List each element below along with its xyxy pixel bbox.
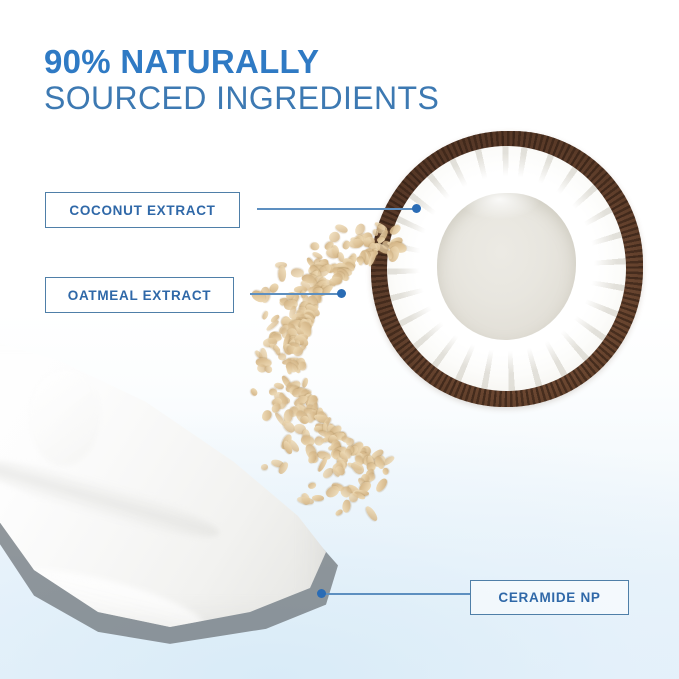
oat-flake xyxy=(334,222,349,234)
oat-flake xyxy=(296,308,313,318)
leader-dot-coconut xyxy=(412,204,421,213)
headline-line-2: SOURCED INGREDIENTS xyxy=(44,81,439,115)
oat-flake xyxy=(312,274,326,290)
headline-line-1: 90% NATURALLY xyxy=(44,44,439,79)
oat-flake xyxy=(284,298,300,311)
oat-flake xyxy=(319,282,329,292)
oat-flake xyxy=(344,261,356,273)
oat-flake xyxy=(307,264,319,277)
oat-flake xyxy=(301,273,317,284)
oat-flake xyxy=(371,454,387,469)
oat-flake xyxy=(324,263,336,275)
oat-flake xyxy=(298,300,311,315)
oat-flake xyxy=(305,302,322,318)
oat-flake xyxy=(316,257,331,274)
leader-line-oatmeal xyxy=(250,293,342,295)
coconut-cavity xyxy=(437,193,576,340)
oat-flake xyxy=(290,294,300,306)
oat-flake xyxy=(312,295,321,307)
oat-flake xyxy=(319,258,328,269)
oat-flake xyxy=(344,255,357,269)
oat-flake xyxy=(304,302,314,312)
oat-flake xyxy=(373,455,386,470)
oat-flake xyxy=(329,275,343,285)
oat-flake xyxy=(319,284,335,298)
oat-flake xyxy=(316,262,333,279)
oat-flake xyxy=(331,245,340,259)
oat-flake xyxy=(260,287,271,304)
oat-flake xyxy=(294,286,308,293)
cream-peak xyxy=(30,370,100,466)
oat-flake xyxy=(301,299,313,308)
oat-flake xyxy=(335,267,350,283)
oat-flake xyxy=(361,453,372,465)
oat-flake xyxy=(301,294,310,309)
coconut-flesh xyxy=(387,146,626,391)
cream-swatch-image xyxy=(0,318,360,668)
callout-ceramide-np[interactable]: CERAMIDE NP xyxy=(470,580,629,615)
oat-flake xyxy=(317,276,329,290)
callout-oatmeal-extract-label: OATMEAL EXTRACT xyxy=(68,288,212,303)
oat-flake xyxy=(335,270,346,281)
oat-flake xyxy=(319,258,330,272)
oat-flake xyxy=(355,255,364,264)
oat-flake xyxy=(337,267,353,278)
oat-flake xyxy=(277,296,288,307)
oat-flake xyxy=(327,230,341,244)
oat-flake xyxy=(316,294,321,304)
oat-flake xyxy=(306,294,319,310)
oat-flake xyxy=(306,304,319,314)
oat-flake xyxy=(364,504,379,522)
oat-flake xyxy=(355,232,370,242)
oat-flake xyxy=(334,261,348,274)
oat-flake xyxy=(275,262,287,268)
oat-flake xyxy=(353,234,365,249)
oat-flake xyxy=(324,246,339,260)
oat-flake xyxy=(361,454,372,466)
oat-flake xyxy=(309,283,325,299)
coconut-image xyxy=(371,131,643,407)
oat-flake xyxy=(332,265,350,278)
oat-flake xyxy=(366,462,376,472)
oat-flake xyxy=(353,222,367,237)
oat-flake xyxy=(307,304,314,313)
oat-flake xyxy=(367,455,375,469)
oat-flake xyxy=(359,249,372,265)
oat-flake xyxy=(365,471,377,483)
oat-flake xyxy=(308,264,322,279)
oat-flake xyxy=(356,234,367,246)
oat-flake xyxy=(363,468,376,484)
oat-flake xyxy=(349,236,365,249)
oat-flake xyxy=(348,238,363,249)
oat-flake xyxy=(373,477,388,494)
page-title: 90% NATURALLY SOURCED INGREDIENTS xyxy=(44,44,439,116)
oat-flake xyxy=(306,274,321,291)
oat-flake xyxy=(321,278,337,289)
oat-flake xyxy=(299,279,312,292)
oat-flake xyxy=(332,265,350,279)
oat-flake xyxy=(332,268,348,274)
callout-coconut-extract[interactable]: COCONUT EXTRACT xyxy=(45,192,240,228)
oat-flake xyxy=(359,445,372,457)
leader-dot-oatmeal xyxy=(337,289,346,298)
oat-flake xyxy=(369,448,385,462)
oat-flake xyxy=(279,266,287,282)
oat-flake xyxy=(361,250,369,265)
oat-flake xyxy=(312,261,329,273)
oat-flake xyxy=(383,467,390,475)
oat-flake xyxy=(312,265,327,272)
coconut-ridges xyxy=(387,146,626,391)
oat-flake xyxy=(290,267,304,277)
callout-coconut-extract-label: COCONUT EXTRACT xyxy=(69,203,215,218)
oat-flake xyxy=(311,242,320,251)
oat-flake xyxy=(311,257,322,269)
oat-flake xyxy=(363,452,371,463)
oat-flake xyxy=(278,297,295,309)
oat-flake xyxy=(307,286,318,297)
oat-flake xyxy=(298,301,308,310)
oat-flake xyxy=(357,250,366,266)
oat-flake xyxy=(306,269,320,283)
cream-crease xyxy=(0,448,224,550)
oat-flake xyxy=(341,240,351,251)
oat-flake xyxy=(359,473,370,484)
oat-flake xyxy=(311,251,323,261)
leader-line-ceramide xyxy=(322,593,470,595)
oat-flake xyxy=(306,257,316,269)
coconut-highlight xyxy=(459,180,540,219)
oat-flake xyxy=(321,282,332,293)
oat-flake xyxy=(337,252,345,263)
oat-flake xyxy=(362,455,376,469)
oat-flake xyxy=(326,263,339,275)
oat-flake xyxy=(249,288,267,305)
oat-flake xyxy=(347,253,358,268)
oat-flake xyxy=(297,305,309,316)
oat-flake xyxy=(352,238,362,248)
coconut-husk xyxy=(371,131,643,407)
callout-oatmeal-extract[interactable]: OATMEAL EXTRACT xyxy=(45,277,234,313)
oat-flake xyxy=(323,239,335,251)
ingredients-infographic: 90% NATURALLY SOURCED INGREDIENTS COCONU… xyxy=(0,0,679,679)
leader-line-coconut xyxy=(257,208,417,210)
oat-flake xyxy=(380,455,395,468)
leader-dot-ceramide xyxy=(317,589,326,598)
callout-ceramide-np-label: CERAMIDE NP xyxy=(498,590,600,605)
oat-flake xyxy=(341,257,358,272)
oat-flake xyxy=(331,273,343,286)
